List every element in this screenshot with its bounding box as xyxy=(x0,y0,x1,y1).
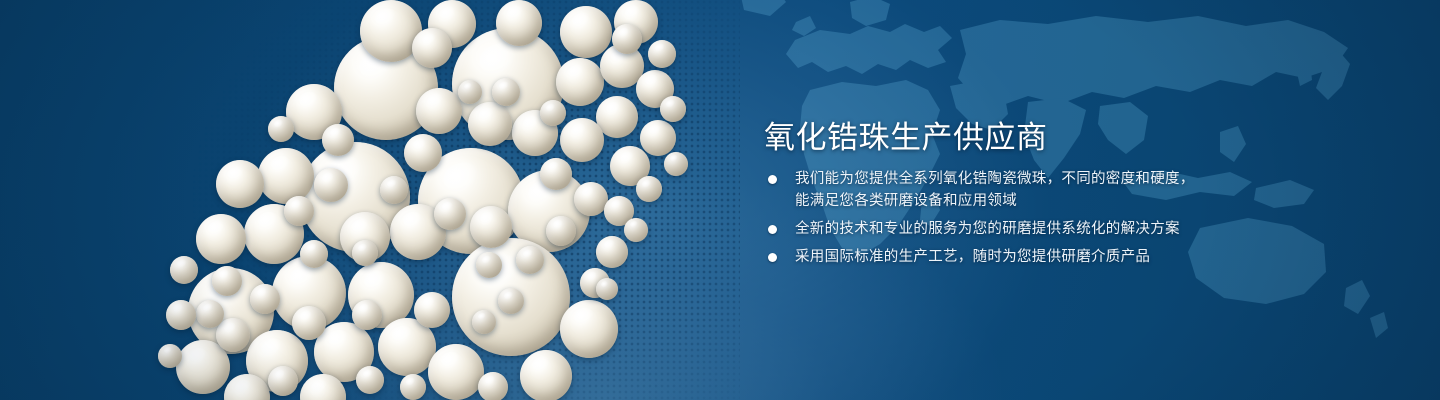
bullet-text-line: 我们能为您提供全系列氧化锆陶瓷微珠，不同的密度和硬度， xyxy=(795,168,1195,190)
list-item: 采用国际标准的生产工艺，随时为您提供研磨介质产品 xyxy=(768,246,1195,268)
list-item: 全新的技术和专业的服务为您的研磨提供系统化的解决方案 xyxy=(768,218,1195,240)
bullet-text-line: 全新的技术和专业的服务为您的研磨提供系统化的解决方案 xyxy=(795,218,1195,240)
hero-banner: 氧化锆珠生产供应商 我们能为您提供全系列氧化锆陶瓷微珠，不同的密度和硬度， 能满… xyxy=(0,0,1440,400)
banner-bullet-list: 我们能为您提供全系列氧化锆陶瓷微珠，不同的密度和硬度， 能满足您各类研磨设备和应… xyxy=(768,168,1195,268)
bullet-text-line: 能满足您各类研磨设备和应用领域 xyxy=(795,190,1195,212)
dot-bullet-icon xyxy=(768,225,777,234)
dot-bullet-icon xyxy=(768,175,777,184)
list-item: 我们能为您提供全系列氧化锆陶瓷微珠，不同的密度和硬度， 能满足您各类研磨设备和应… xyxy=(768,168,1195,212)
bullet-text-line: 采用国际标准的生产工艺，随时为您提供研磨介质产品 xyxy=(795,246,1195,268)
dot-bullet-icon xyxy=(768,253,777,262)
banner-content: 氧化锆珠生产供应商 我们能为您提供全系列氧化锆陶瓷微珠，不同的密度和硬度， 能满… xyxy=(764,0,1364,400)
banner-headline: 氧化锆珠生产供应商 xyxy=(764,112,1048,157)
